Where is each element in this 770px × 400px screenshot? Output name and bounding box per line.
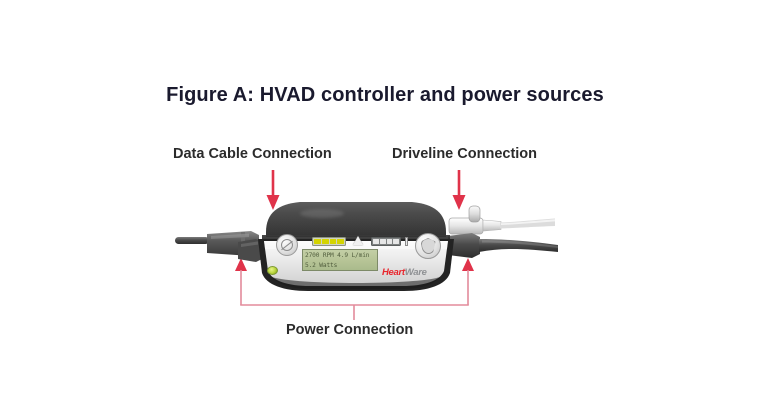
alarm-silence-button[interactable] [415,233,441,259]
secondary-level-bar [371,237,401,246]
lcd-display: 2700 RPM 4.9 L/min 5.2 Watts [302,249,378,271]
battery-segment [330,239,337,244]
secondary-segment [380,239,386,244]
battery-segment [314,239,321,244]
lcd-line-1: 2700 RPM 4.9 L/min [305,251,375,261]
callout-label-data-cable: Data Cable Connection [173,146,332,162]
lcd-line-2: 5.2 Watts [305,261,375,271]
battery-segment [337,239,344,244]
secondary-segment [373,239,379,244]
circle-slash-icon [281,239,293,251]
shell-highlight [300,209,344,218]
callout-label-driveline: Driveline Connection [392,146,537,162]
heartware-logo: HeartWare [382,267,427,278]
battery-level-bar [312,237,346,246]
callout-label-power: Power Connection [286,322,413,338]
scroll-button[interactable] [276,234,298,256]
logo-ware-text: Ware [405,267,427,278]
battery-segment [322,239,329,244]
status-indicator-pip [405,237,408,246]
power-cable-right [446,232,558,262]
power-led-icon [267,266,278,275]
figure-container: Figure A: HVAD controller and power sour… [0,0,770,400]
secondary-segment [387,239,393,244]
alarm-triangle-icon [353,236,363,245]
page-title: Figure A: HVAD controller and power sour… [0,84,770,107]
shield-icon [421,238,436,254]
secondary-segment [393,239,399,244]
logo-heart-text: Heart [382,267,405,278]
